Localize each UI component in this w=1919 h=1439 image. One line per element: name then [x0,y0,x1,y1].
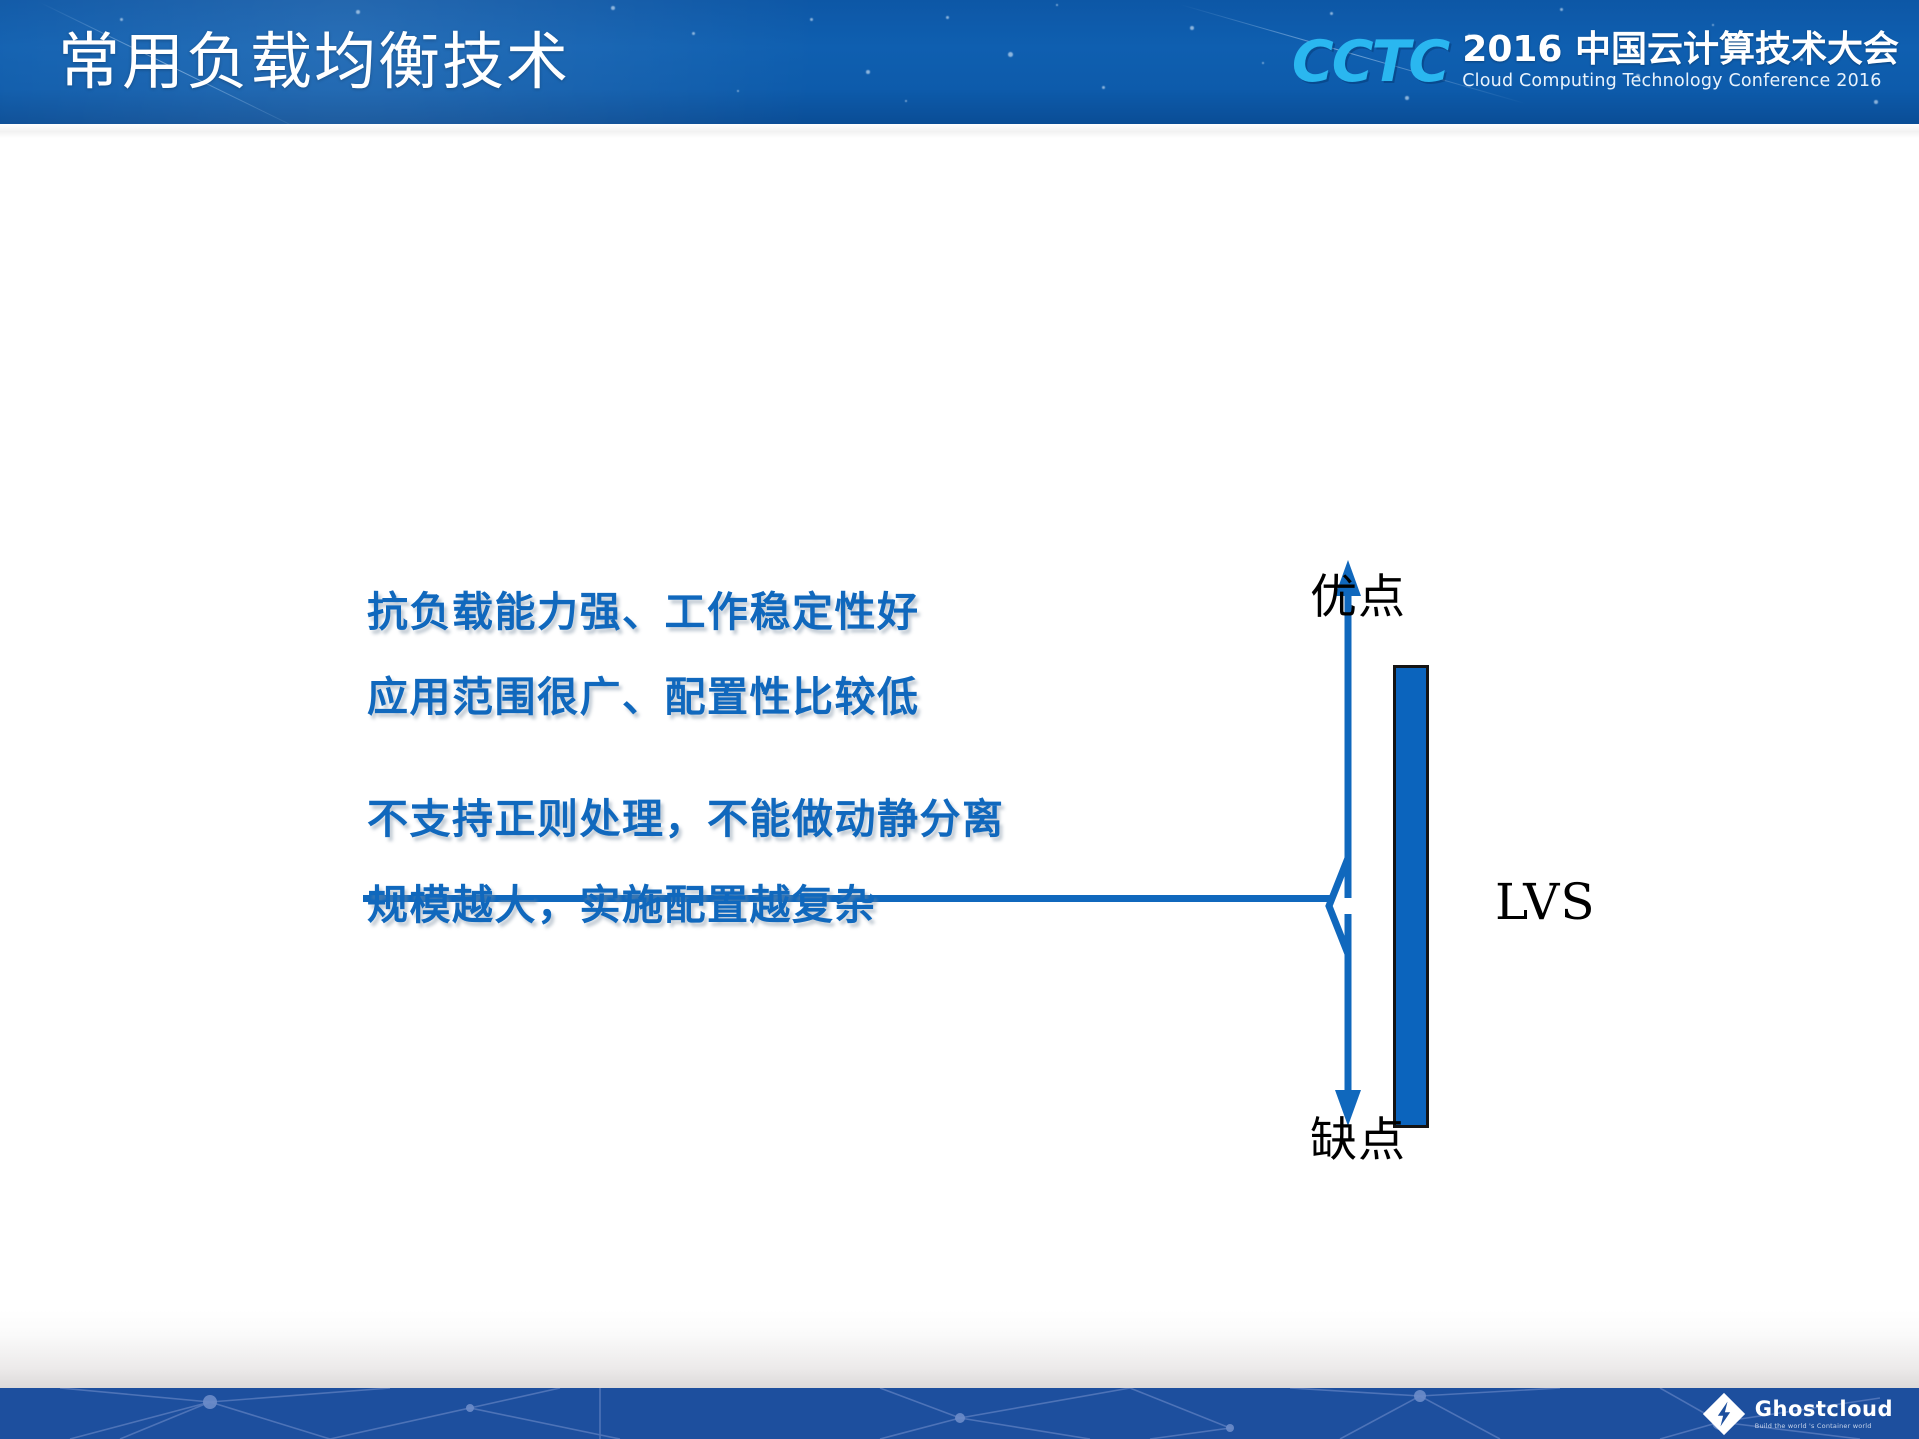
lvs-scale-bar [1393,665,1429,1128]
header-star-icon [810,18,813,21]
diagram-subject-label: LVS [1495,873,1596,931]
cctc-wordmark: CCTC [1292,34,1448,91]
slide-canvas: 常用负载均衡技术 CCTC 2016 中国云计算技术大会 Cloud Compu… [0,0,1919,1439]
header-star-icon [1008,52,1013,57]
header-star-icon [692,32,695,35]
ghostcloud-wordmark: Ghostcloud Build the world 's Container … [1755,1399,1893,1430]
disadvantage-line-1: 不支持正则处理，不能做动静分离 [367,785,1005,845]
page-title: 常用负载均衡技术 [58,14,570,110]
header-underglow [0,124,1919,138]
network-pattern-icon [0,1388,1919,1439]
header-star-icon [737,90,739,92]
slide-header-band: 常用负载均衡技术 CCTC 2016 中国云计算技术大会 Cloud Compu… [0,0,1919,124]
diagram-label-pros: 优点 [1310,558,1406,627]
header-star-icon [1056,4,1058,6]
ghostcloud-diamond-icon [1702,1392,1746,1436]
diagram-label-cons: 缺点 [1310,1101,1406,1170]
ghostcloud-logo: Ghostcloud Build the world 's Container … [1702,1391,1893,1437]
header-star-icon [905,100,907,102]
conference-title-cn: 2016 中国云计算技术大会 [1462,30,1899,70]
disadvantage-line-2: 规模越大，实施配置越复杂 [367,871,877,931]
footer-gradient [0,1310,1919,1388]
header-star-icon [866,70,870,74]
conference-logo-text: 2016 中国云计算技术大会 Cloud Computing Technolog… [1462,30,1899,94]
header-star-icon [1262,62,1264,64]
advantage-line-2: 应用范围很广、配置性比较低 [367,663,920,723]
header-star-icon [946,16,949,19]
header-star-icon [1330,12,1333,15]
conference-title-en: Cloud Computing Technology Conference 20… [1462,70,1899,92]
header-star-icon [1190,26,1194,30]
header-star-icon [1560,8,1563,11]
ghostcloud-brand-name: Ghostcloud [1755,1399,1893,1420]
slide-footer-band: Ghostcloud Build the world 's Container … [0,1388,1919,1439]
ghostcloud-tagline: Build the world 's Container world [1755,1423,1893,1430]
advantage-line-1: 抗负载能力强、工作稳定性好 [367,578,920,638]
conference-logo: CCTC 2016 中国云计算技术大会 Cloud Computing Tech… [1292,18,1899,106]
slide-body: 抗负载能力强、工作稳定性好 应用范围很广、配置性比较低 不支持正则处理，不能做动… [0,138,1919,1386]
header-star-icon [611,6,615,10]
header-star-icon [1102,86,1105,89]
